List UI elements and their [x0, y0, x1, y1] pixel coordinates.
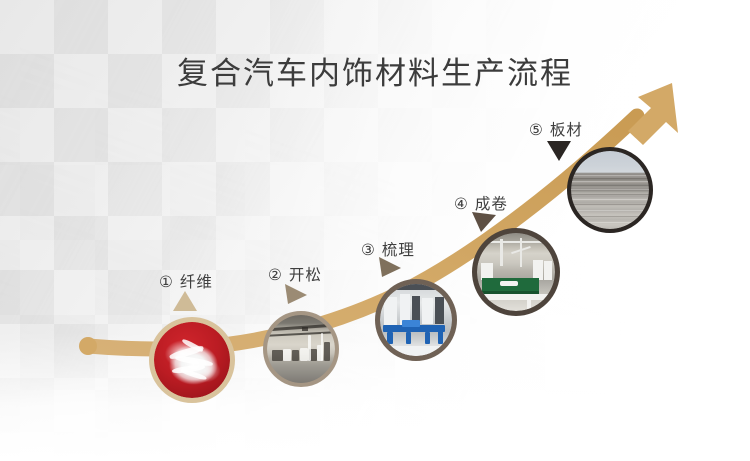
step-label-1: ① 纤维	[159, 270, 213, 292]
step-marker-5-triangle-down-icon	[546, 140, 572, 162]
step-label-2: ② 开松	[268, 263, 322, 285]
flow-start-cap-icon	[79, 337, 97, 355]
step-marker-1-triangle-up-icon	[172, 290, 198, 312]
step-marker-4-triangle-down-icon	[471, 211, 497, 233]
flow-arrow	[0, 0, 750, 461]
board-material-photo	[571, 151, 649, 229]
step-node-3[interactable]	[375, 279, 457, 361]
step-marker-2-triangle-down-icon	[284, 283, 308, 305]
infographic-canvas: 复合汽车内饰材料生产流程 ① 纤维	[0, 0, 750, 461]
rolling-machine-photo	[477, 233, 555, 311]
carding-machine-photo	[380, 284, 452, 356]
step-node-2[interactable]	[263, 311, 339, 387]
opening-machine-photo	[267, 315, 335, 383]
step-node-1[interactable]	[149, 317, 235, 403]
step-node-4[interactable]	[472, 228, 560, 316]
step-label-5: ⑤ 板材	[529, 118, 583, 140]
fiber-photo	[154, 322, 230, 398]
step-marker-3-triangle-down-icon	[378, 256, 402, 278]
step-node-5[interactable]	[567, 147, 653, 233]
